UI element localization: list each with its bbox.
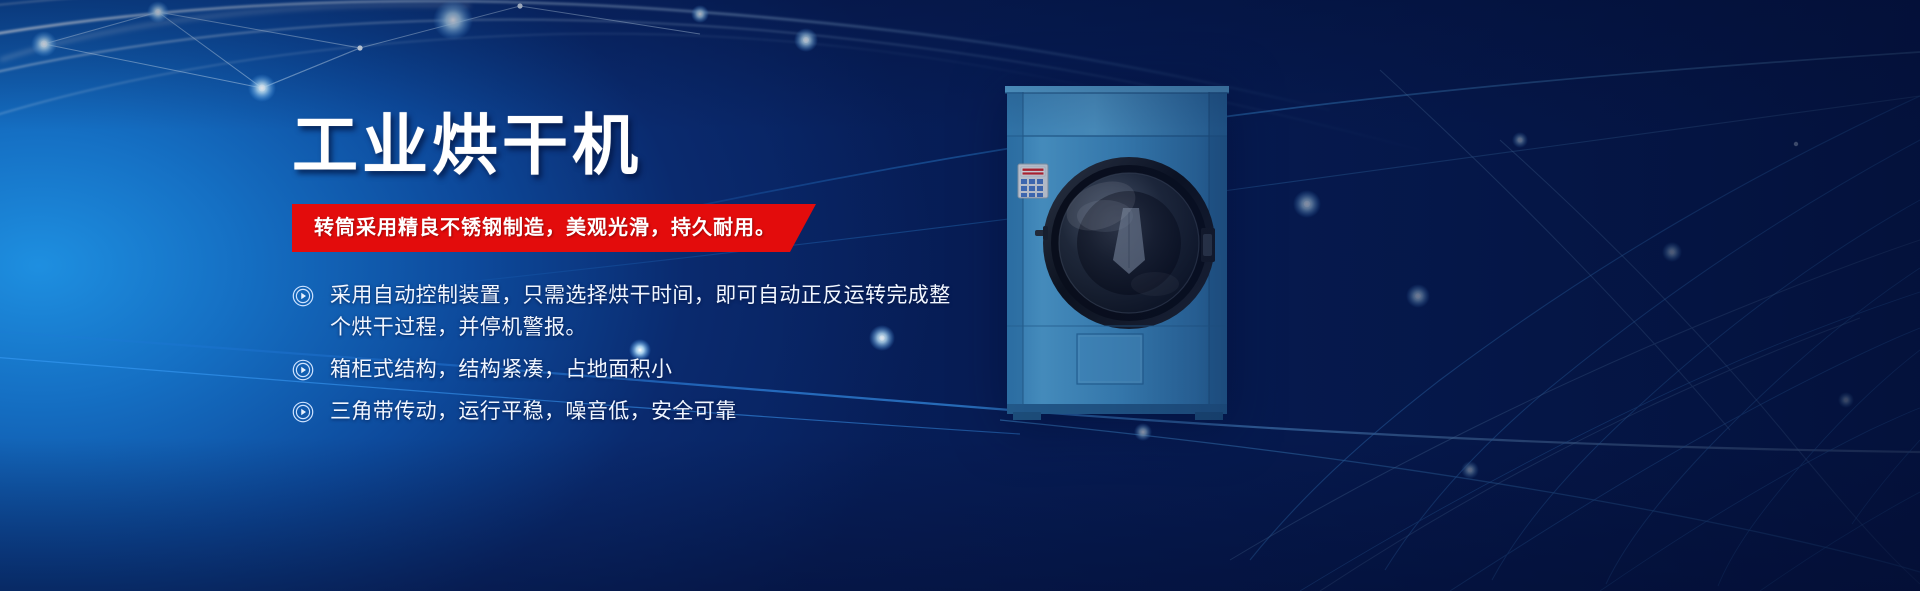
feature-list: 采用自动控制装置，只需选择烘干时间，即可自动正反运转完成整个烘干过程，并停机警报… [292, 280, 992, 428]
circled-play-icon [292, 285, 314, 307]
list-item: 三角带传动，运行平稳，噪音低，安全可靠 [292, 396, 992, 428]
circled-play-icon [292, 359, 314, 381]
list-item: 箱柜式结构，结构紧凑，占地面积小 [292, 354, 992, 386]
banner-content: 工业烘干机 转筒采用精良不锈钢制造，美观光滑，持久耐用。 采用自动控制装置，只需… [292, 112, 992, 428]
subtitle-ribbon: 转筒采用精良不锈钢制造，美观光滑，持久耐用。 [292, 204, 816, 252]
list-item: 采用自动控制装置，只需选择烘干时间，即可自动正反运转完成整个烘干过程，并停机警报… [292, 280, 992, 344]
banner-title: 工业烘干机 [292, 112, 992, 178]
product-image-industrial-dryer [1005, 78, 1233, 422]
list-item-label: 三角带传动，运行平稳，噪音低，安全可靠 [330, 396, 737, 428]
hero-banner: 工业烘干机 转筒采用精良不锈钢制造，美观光滑，持久耐用。 采用自动控制装置，只需… [0, 0, 1920, 591]
circled-play-icon [292, 401, 314, 423]
machine-control-panel [1018, 164, 1048, 198]
machine-lower-hatch [1077, 334, 1143, 384]
list-item-label: 箱柜式结构，结构紧凑，占地面积小 [330, 354, 672, 386]
subtitle-ribbon-wrap: 转筒采用精良不锈钢制造，美观光滑，持久耐用。 [292, 204, 816, 252]
list-item-label: 采用自动控制装置，只需选择烘干时间，即可自动正反运转完成整个烘干过程，并停机警报… [330, 280, 970, 344]
